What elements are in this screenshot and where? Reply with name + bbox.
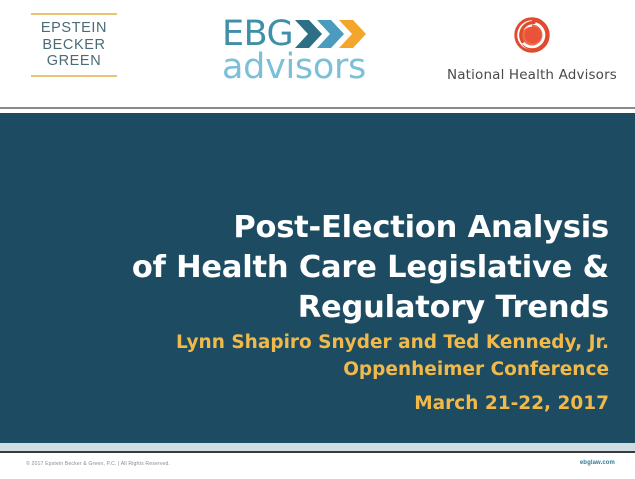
logo-rule-bottom <box>31 75 117 77</box>
national-health-advisors-logo: National Health Advisors <box>446 14 618 83</box>
event-date: March 21-22, 2017 <box>29 390 609 417</box>
slide-subtitle: Lynn Shapiro Snyder and Ted Kennedy, Jr.… <box>29 329 609 417</box>
national-health-advisors-label: National Health Advisors <box>446 67 618 83</box>
epstein-becker-green-logo: EPSTEIN BECKER GREEN <box>31 13 117 77</box>
presenters-text: Lynn Shapiro Snyder and Ted Kennedy, Jr. <box>29 329 609 356</box>
slide-title-line-1: Post-Election Analysis <box>29 208 609 248</box>
ebg-advisors-logo: EBG advisors <box>222 16 372 88</box>
slide-title-line-2: of Health Care Legislative & <box>29 248 609 288</box>
title-panel: Post-Election Analysis of Health Care Le… <box>0 113 635 443</box>
firm-name-line-3: GREEN <box>31 53 117 70</box>
advisors-word: advisors <box>222 48 366 86</box>
swirl-icon <box>446 14 618 61</box>
copyright-text: © 2017 Epstein Becker & Green, P.C. | Al… <box>26 461 170 467</box>
presentation-slide: EPSTEIN BECKER GREEN EBG advisors <box>0 0 635 479</box>
website-url[interactable]: ebglaw.com <box>580 460 615 466</box>
title-panel-content: Post-Election Analysis of Health Care Le… <box>29 113 609 443</box>
footer: © 2017 Epstein Becker & Green, P.C. | Al… <box>0 453 635 479</box>
footer-gap <box>0 443 635 451</box>
firm-name-line-1: EPSTEIN <box>31 20 117 37</box>
conference-name: Oppenheimer Conference <box>29 356 609 383</box>
firm-name-text: EPSTEIN BECKER GREEN <box>31 15 117 73</box>
slide-title: Post-Election Analysis of Health Care Le… <box>29 208 609 328</box>
logo-bar: EPSTEIN BECKER GREEN EBG advisors <box>0 0 635 106</box>
firm-name-line-2: BECKER <box>31 37 117 54</box>
slide-title-line-3: Regulatory Trends <box>29 288 609 328</box>
